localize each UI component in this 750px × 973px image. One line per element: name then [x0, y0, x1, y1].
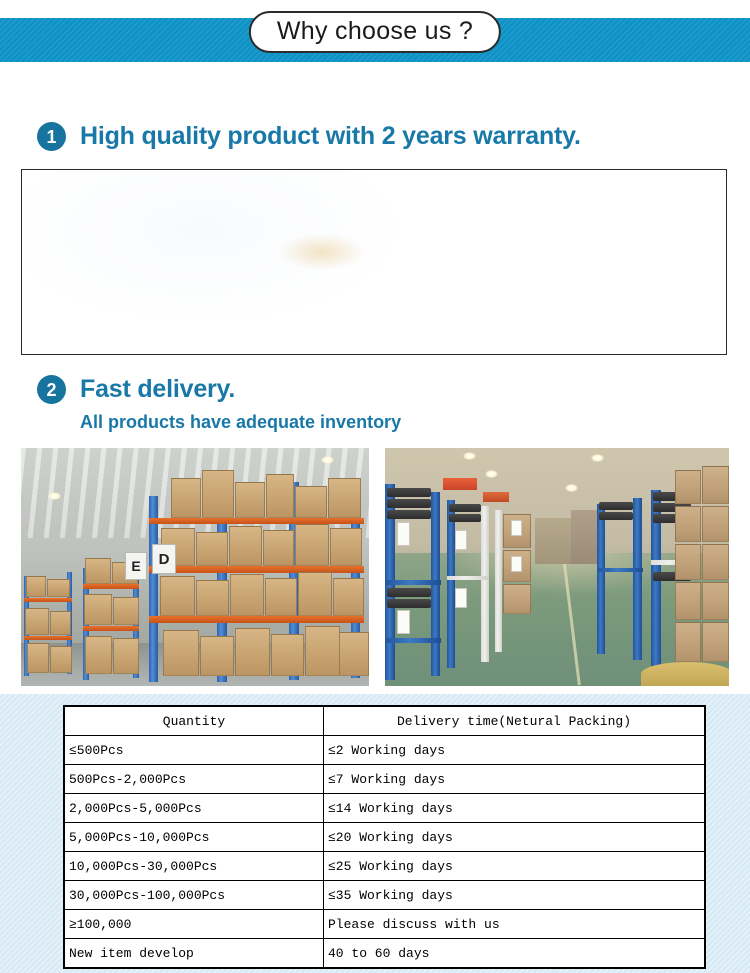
carton-box	[702, 622, 729, 662]
warehouse-photo-row: E D	[0, 448, 750, 688]
table-row: 5,000Pcs-10,000Pcs ≤20 Working days	[64, 823, 705, 852]
carton-box	[196, 580, 229, 616]
shelf-label	[455, 530, 467, 550]
carton-box	[229, 526, 262, 566]
cell-quantity: ≤500Pcs	[64, 736, 324, 765]
rack-beam	[149, 616, 364, 623]
rack-beam	[385, 580, 441, 585]
rack-beam	[24, 636, 72, 640]
shelf-label	[397, 610, 410, 634]
cell-quantity: ≥100,000	[64, 910, 324, 939]
rack-beam	[83, 584, 139, 589]
cell-delivery-time: Please discuss with us	[324, 910, 706, 939]
rack-post	[481, 506, 489, 662]
delivery-table-zone: Quantity Delivery time(Netural Packing) …	[0, 694, 750, 973]
carton-box	[675, 506, 701, 542]
shelf-label	[455, 588, 467, 608]
carton-box	[675, 622, 701, 662]
ceiling-lamp-icon	[591, 454, 604, 462]
column-header-delivery-time: Delivery time(Netural Packing)	[324, 706, 706, 736]
stacked-part	[387, 488, 431, 497]
carton-box	[47, 579, 70, 597]
cell-delivery-time: ≤2 Working days	[324, 736, 706, 765]
rack-beam	[24, 598, 72, 602]
aisle-sign-e: E	[125, 552, 147, 580]
carton-box	[202, 470, 234, 518]
rack-beam	[149, 518, 364, 524]
carton-box	[265, 578, 297, 616]
table-row: 500Pcs-2,000Pcs ≤7 Working days	[64, 765, 705, 794]
carton-box	[702, 582, 729, 620]
rack-post	[597, 504, 605, 654]
stacked-part	[387, 510, 431, 519]
yellow-pallet	[641, 662, 729, 686]
cell-delivery-time: ≤7 Working days	[324, 765, 706, 794]
carton-box	[702, 506, 729, 542]
aisle-sign-d: D	[152, 544, 176, 574]
table-row: ≥100,000 Please discuss with us	[64, 910, 705, 939]
carton-box	[113, 597, 139, 625]
carton-box	[675, 470, 701, 504]
carton-box	[305, 626, 340, 676]
carton-box	[328, 478, 361, 518]
stacked-part	[387, 599, 431, 608]
cell-quantity: 2,000Pcs-5,000Pcs	[64, 794, 324, 823]
cell-delivery-time: 40 to 60 days	[324, 939, 706, 969]
stacked-part	[599, 512, 633, 520]
column-header-quantity: Quantity	[64, 706, 324, 736]
warehouse-photo-right	[385, 448, 729, 686]
product-photo-placeholder	[21, 169, 727, 355]
carton-box	[85, 636, 112, 674]
table-row: 30,000Pcs-100,000Pcs ≤35 Working days	[64, 881, 705, 910]
carton-box	[25, 608, 49, 635]
cell-delivery-time: ≤14 Working days	[324, 794, 706, 823]
carton-box	[230, 574, 264, 616]
carton-box	[339, 632, 369, 676]
cell-delivery-time: ≤20 Working days	[324, 823, 706, 852]
section-delivery: 2 Fast delivery. All products have adequ…	[0, 375, 750, 433]
carton-box	[702, 466, 729, 504]
cell-quantity: 500Pcs-2,000Pcs	[64, 765, 324, 794]
table-header-row: Quantity Delivery time(Netural Packing)	[64, 706, 705, 736]
table-row: New item develop 40 to 60 days	[64, 939, 705, 969]
carton-box	[171, 478, 201, 518]
section-number-badge-1: 1	[37, 122, 66, 151]
shelf-label	[397, 522, 410, 546]
red-crate	[483, 492, 509, 502]
header-title-pill: Why choose us ?	[249, 11, 501, 53]
page-title: Why choose us ?	[277, 17, 473, 45]
table-row: ≤500Pcs ≤2 Working days	[64, 736, 705, 765]
section-2-title: Fast delivery.	[80, 375, 235, 404]
carton-box	[85, 558, 111, 584]
carton-box	[50, 611, 71, 635]
rack-post	[495, 510, 502, 652]
rack-beam	[597, 568, 643, 572]
carton-box	[295, 524, 329, 566]
carton-box	[675, 582, 701, 620]
shelf-label	[511, 520, 522, 536]
ceiling-lamp-icon	[565, 484, 578, 492]
rack-beam	[83, 626, 139, 631]
carton-box	[266, 474, 294, 518]
stacked-part	[387, 588, 431, 597]
carton-box	[160, 576, 195, 616]
section-1-heading: 1 High quality product with 2 years warr…	[0, 122, 750, 151]
shelf-label	[511, 556, 522, 572]
table-row: 10,000Pcs-30,000Pcs ≤25 Working days	[64, 852, 705, 881]
carton-box	[235, 628, 270, 676]
rack-post	[447, 500, 455, 668]
section-number-badge-2: 2	[37, 375, 66, 404]
cell-quantity: New item develop	[64, 939, 324, 969]
carton-box	[113, 638, 139, 674]
far-pallet-stack	[535, 518, 571, 564]
ceiling-lamp-icon	[463, 452, 476, 460]
cell-quantity: 5,000Pcs-10,000Pcs	[64, 823, 324, 852]
carton-box	[330, 528, 362, 566]
carton-box	[702, 544, 729, 580]
carton-box	[235, 482, 265, 518]
carton-box	[333, 578, 364, 616]
carton-box	[163, 630, 199, 676]
rack-beam	[447, 576, 489, 580]
carton-box	[503, 584, 531, 614]
ceiling-lamp-icon	[485, 470, 498, 478]
stacked-part	[449, 514, 481, 522]
section-2-subtitle: All products have adequate inventory	[0, 412, 750, 433]
red-crate	[443, 478, 477, 490]
warehouse-aisle-illustration	[385, 448, 729, 686]
delivery-time-table: Quantity Delivery time(Netural Packing) …	[63, 705, 706, 969]
ceiling-lamp-icon	[321, 456, 334, 464]
carton-box	[200, 636, 234, 676]
stacked-part	[599, 502, 633, 510]
carton-box	[50, 646, 72, 673]
carton-box	[295, 486, 327, 518]
rack-post	[633, 498, 642, 660]
cell-quantity: 10,000Pcs-30,000Pcs	[64, 852, 324, 881]
carton-box	[26, 576, 46, 597]
section-1-title: High quality product with 2 years warran…	[80, 122, 581, 151]
carton-box	[27, 643, 49, 673]
carton-box	[271, 634, 304, 676]
stacked-part	[387, 499, 431, 508]
rack-beam	[385, 638, 441, 643]
carton-box	[196, 532, 228, 566]
ceiling-lamp-icon	[48, 492, 61, 500]
stacked-part	[449, 504, 481, 512]
table-row: 2,000Pcs-5,000Pcs ≤14 Working days	[64, 794, 705, 823]
carton-box	[263, 530, 294, 566]
section-2-heading: 2 Fast delivery.	[0, 375, 750, 404]
carton-box	[298, 572, 332, 616]
carton-box	[84, 594, 112, 625]
warehouse-racking-illustration: E D	[21, 448, 369, 686]
carton-box	[675, 544, 701, 580]
section-quality: 1 High quality product with 2 years warr…	[0, 122, 750, 151]
cell-quantity: 30,000Pcs-100,000Pcs	[64, 881, 324, 910]
cell-delivery-time: ≤25 Working days	[324, 852, 706, 881]
cell-delivery-time: ≤35 Working days	[324, 881, 706, 910]
warehouse-photo-left: E D	[21, 448, 369, 686]
